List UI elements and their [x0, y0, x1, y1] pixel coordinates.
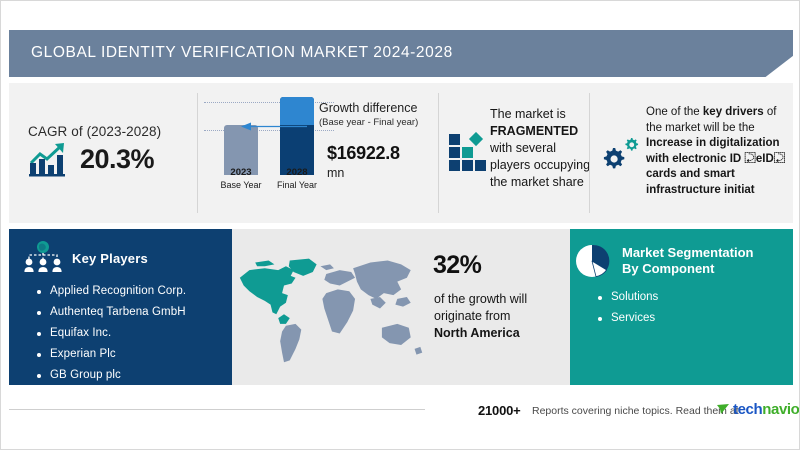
bar-final-year [280, 97, 314, 175]
map-region-africa [322, 289, 355, 333]
map-region-asia [353, 261, 411, 309]
fragmented-line1: The market is [490, 107, 566, 121]
list-item: Applied Recognition Corp. [35, 285, 186, 297]
region-growth-percent: 32% [433, 251, 481, 280]
leaf-arrow-icon [717, 403, 730, 416]
region-growth-description: of the growth will originate from North … [434, 291, 564, 342]
drivers-keyword-2: Increase in digitalization with electron… [646, 137, 785, 196]
bar-label-final: 2028Final Year [268, 167, 326, 192]
segmentation-header: Market Segmentation By Component [572, 241, 772, 281]
segmentation-title: Market Segmentation By Component [622, 241, 772, 277]
regional-growth-panel: 32% of the growth will originate from No… [232, 229, 570, 385]
list-item: Services [596, 312, 658, 324]
fragmented-line3: players occupying [490, 158, 590, 172]
growth-difference-unit: mn [327, 166, 344, 180]
divider-2 [438, 93, 439, 213]
world-map-icon [236, 249, 428, 369]
gears-icon [598, 138, 640, 174]
key-players-panel: Key Players Applied Recognition Corp. Au… [9, 229, 232, 385]
drivers-lead: One of the [646, 106, 703, 118]
footer-tagline: Reports covering niche topics. Read them… [532, 405, 739, 417]
people-network-icon [23, 241, 63, 275]
divider-1 [197, 93, 198, 213]
cagr-label: CAGR of (2023-2028) [28, 124, 161, 139]
key-players-header: Key Players [23, 241, 148, 275]
fragmented-keyword: FRAGMENTED [490, 124, 578, 138]
growth-bar-chart: 2023 Base Year 2023Base Year 2028Final Y… [204, 97, 334, 202]
logo-wordmark: technavio® [733, 401, 800, 418]
map-region-south-america [280, 324, 301, 362]
bar-growth-segment [280, 97, 314, 125]
growth-difference-subtitle: (Base year - Final year) [319, 117, 418, 128]
list-item: Experian Plc [35, 348, 186, 360]
list-item: Equifax Inc. [35, 327, 186, 339]
drivers-keyword-1: key drivers [703, 106, 764, 118]
map-region-north-america [240, 259, 317, 324]
list-item: Solutions [596, 291, 658, 303]
left-arrow-icon [241, 122, 307, 131]
region-line2: originate from [434, 309, 510, 323]
report-count: 21000+ [478, 403, 521, 418]
cagr-value: 20.3% [80, 146, 154, 173]
key-players-title: Key Players [72, 251, 148, 266]
market-segmentation-panel: Market Segmentation By Component Solutio… [570, 229, 793, 385]
squares-cluster-icon [449, 132, 489, 172]
key-drivers-text: One of the key drivers of the market wil… [646, 105, 788, 198]
footer-divider [9, 409, 425, 410]
logo-text-navio: navio [762, 401, 799, 418]
technavio-logo[interactable]: technavio® [717, 401, 800, 418]
infographic-canvas: GLOBAL IDENTITY VERIFICATION MARKET 2024… [0, 0, 800, 450]
bar-label-base: 2023 Base Year 2023Base Year [212, 167, 270, 192]
list-item: GB Group plc [35, 369, 186, 381]
divider-3 [589, 93, 590, 213]
region-line1: of the growth will [434, 292, 527, 306]
bar-chart-growth-icon [28, 141, 70, 177]
cagr-block: 20.3% [28, 141, 154, 177]
map-region-europe [320, 264, 355, 285]
logo-text-tech: tech [733, 401, 762, 418]
key-players-list: Applied Recognition Corp. Authenteq Tarb… [35, 285, 186, 390]
map-region-australia [382, 324, 422, 355]
page-title: GLOBAL IDENTITY VERIFICATION MARKET 2024… [31, 44, 453, 62]
fragmented-line2: with several [490, 141, 556, 155]
growth-difference-value: $16922.8 [327, 143, 400, 164]
pie-chart-icon [572, 241, 614, 281]
fragmented-line4: the market share [490, 175, 584, 189]
region-name: North America [434, 326, 520, 340]
list-item: Authenteq Tarbena GmbH [35, 306, 186, 318]
growth-difference-title: Growth difference [319, 101, 417, 115]
gridline-top [204, 102, 334, 103]
segmentation-list: Solutions Services [596, 291, 658, 333]
